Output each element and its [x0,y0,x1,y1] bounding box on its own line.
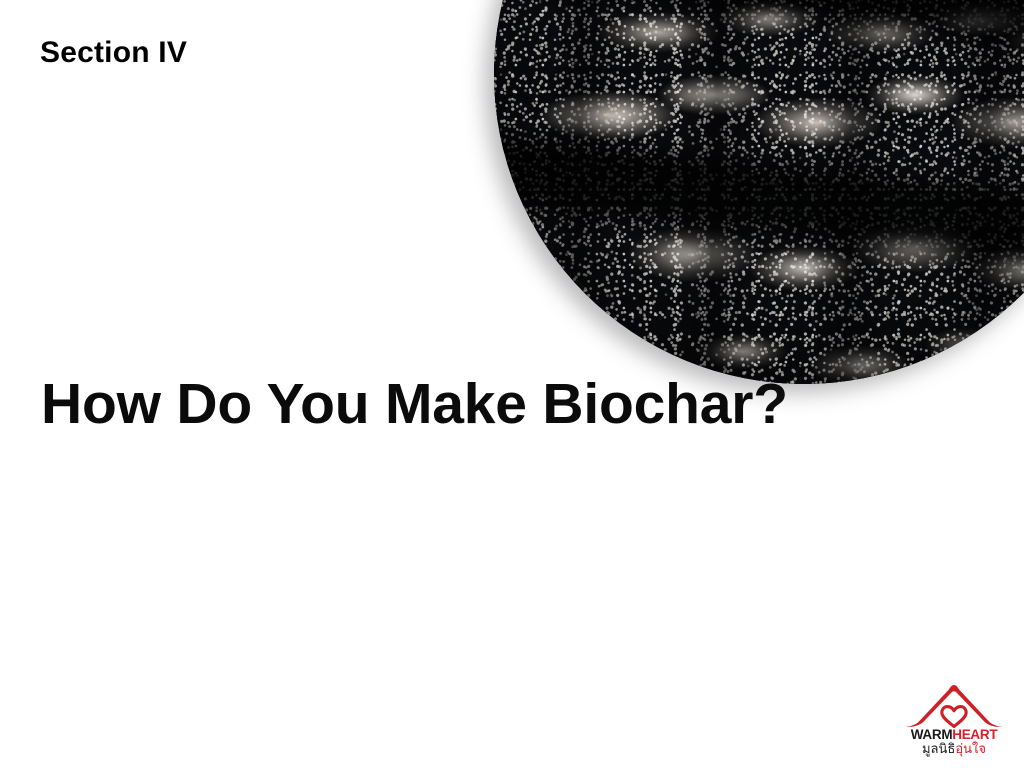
warmheart-logo: WARMHEART มูลนิธิอุ่นใจ [899,681,1009,759]
warmheart-wordmark: WARMHEART [899,728,1009,742]
thai-name-second: อุ่นใจ [955,741,986,756]
roof-and-heart-icon [899,681,1009,731]
thai-name-first: มูลนิธิ [922,741,955,756]
section-label: Section IV [40,36,187,69]
slide-title: How Do You Make Biochar? [41,375,788,435]
wordmark-heart: HEART [952,727,997,742]
biochar-photo-clip [494,0,1024,384]
warmheart-thai-name: มูลนิธิอุ่นใจ [899,742,1009,755]
presentation-slide: Section IV How Do You Make Biochar? WARM… [0,0,1024,768]
wordmark-warm: WARM [911,727,953,742]
biochar-photo [494,0,1024,384]
